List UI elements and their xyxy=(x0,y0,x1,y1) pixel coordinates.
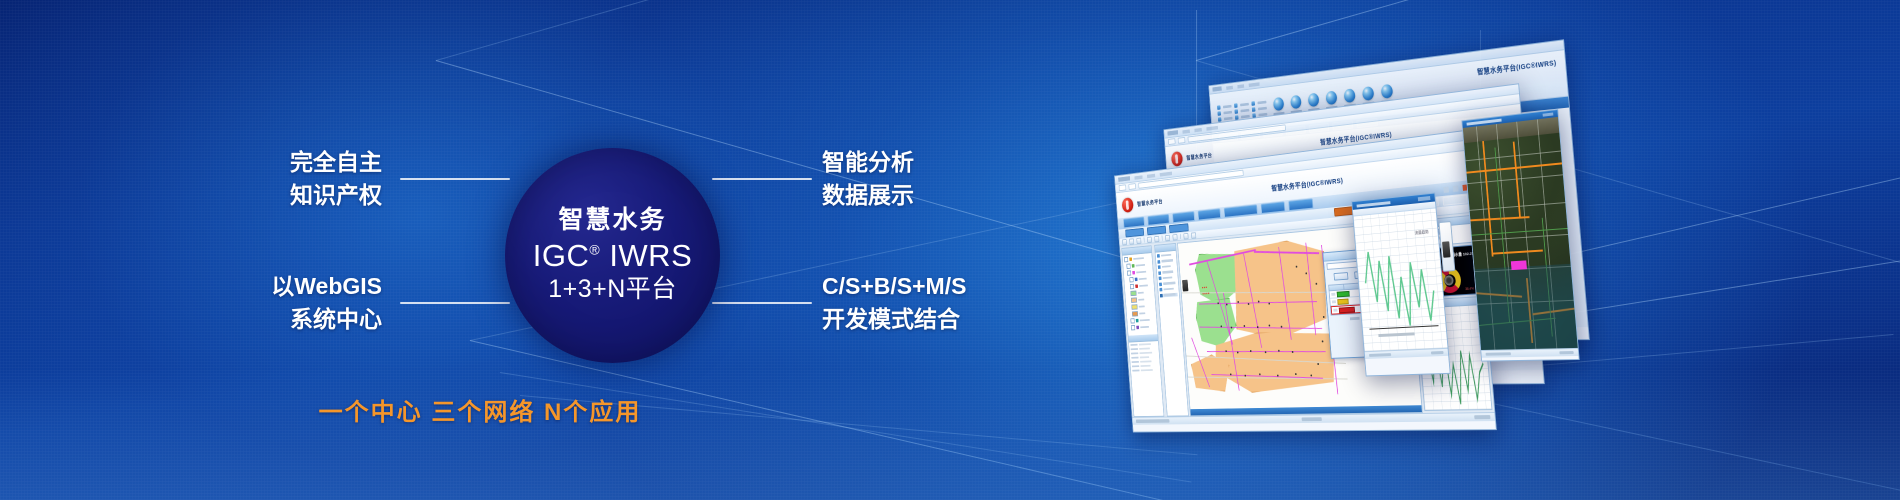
feature-top-left-line1: 完全自主 xyxy=(290,146,382,179)
connector-top-left xyxy=(400,178,510,180)
hub-line2-rest: IWRS xyxy=(609,238,692,273)
legend-row xyxy=(1127,296,1154,303)
ribbon-orb-icon xyxy=(1343,88,1355,103)
feature-bottom-left-line1: 以WebGIS xyxy=(271,270,382,303)
tool-item[interactable] xyxy=(1158,264,1176,269)
feature-top-right-line2: 数据展示 xyxy=(822,179,914,212)
maximize-icon[interactable] xyxy=(1453,185,1459,191)
select-tool-icon[interactable] xyxy=(1147,236,1152,242)
water-drop-logo-icon xyxy=(1122,197,1134,213)
window-trend-chart[interactable]: 流量趋势 xyxy=(1351,193,1448,375)
zoom-out-icon[interactable] xyxy=(1136,237,1141,243)
trend-line-svg xyxy=(1353,208,1447,351)
connector-bottom-right xyxy=(712,302,812,304)
layer-tool-icon[interactable] xyxy=(1165,234,1170,241)
layer-item[interactable] xyxy=(1125,276,1152,283)
satellite-map-canvas[interactable] xyxy=(1463,117,1578,350)
pan-tool-icon[interactable] xyxy=(1122,239,1127,245)
layer-item[interactable] xyxy=(1129,324,1156,330)
hub-line2-main: IGC xyxy=(533,238,590,273)
connector-bottom-left xyxy=(400,302,510,304)
tagline: 一个中心 三个网络 N个应用 xyxy=(0,392,960,427)
props-list xyxy=(1129,341,1160,374)
layer-item[interactable] xyxy=(1124,262,1151,269)
tool-item[interactable] xyxy=(1159,275,1177,280)
tool-item[interactable] xyxy=(1160,292,1178,297)
hub-line1: 智慧水务 xyxy=(558,207,666,235)
window-satellite-map[interactable] xyxy=(1461,109,1577,360)
export-tool-icon[interactable] xyxy=(1191,232,1196,239)
hub-line2: IGC® IWRS xyxy=(533,240,693,273)
map-selection-highlight xyxy=(1511,260,1527,270)
ribbon-orb-icon xyxy=(1290,95,1301,109)
ribbon-orb-icon xyxy=(1380,84,1392,99)
query-tool-icon[interactable] xyxy=(1172,234,1177,241)
feature-bottom-right: C/S+B/S+M/S 开发模式结合 xyxy=(822,270,966,335)
legend-row xyxy=(1127,303,1154,309)
tool-item[interactable] xyxy=(1159,281,1177,286)
minimize-icon[interactable] xyxy=(1443,186,1449,192)
tool-item[interactable] xyxy=(1158,270,1176,275)
tool-item[interactable] xyxy=(1157,258,1175,263)
tool-list[interactable] xyxy=(1155,251,1179,299)
legend-row xyxy=(1128,310,1155,316)
feature-bottom-right-line2: 开发模式结合 xyxy=(822,303,966,336)
feature-top-left-line2: 知识产权 xyxy=(290,179,382,212)
hub-line3: 1+3+N平台 xyxy=(548,275,677,304)
banner-stage: 完全自主 知识产权 智能分析 数据展示 以WebGIS 系统中心 C/S+B/S… xyxy=(0,0,1900,500)
measure-tool-icon[interactable] xyxy=(1154,235,1159,241)
front-window-title: 智慧水务平台(IGC®IWRS) xyxy=(1271,175,1343,193)
feature-bottom-right-line1: C/S+B/S+M/S xyxy=(822,270,966,303)
tool-item[interactable] xyxy=(1159,287,1177,292)
ribbon-orb-icon xyxy=(1307,93,1319,108)
ribbon-button-1[interactable] xyxy=(1272,97,1284,116)
feature-bottom-left: 以WebGIS 系统中心 xyxy=(271,270,382,335)
pie-chart-title: 漏水量 102.25 xyxy=(1451,251,1474,259)
front-brand-text: 智慧水务平台 xyxy=(1137,197,1163,208)
connector-top-right xyxy=(712,178,812,180)
legend-row xyxy=(1126,289,1153,296)
trend-nav-knob[interactable] xyxy=(1442,241,1451,258)
layer-item[interactable] xyxy=(1124,255,1151,262)
print-tool-icon[interactable] xyxy=(1183,233,1188,240)
layer-item[interactable] xyxy=(1125,269,1152,276)
infographic: 完全自主 知识产权 智能分析 数据展示 以WebGIS 系统中心 C/S+B/S… xyxy=(0,0,960,500)
feature-top-left: 完全自主 知识产权 xyxy=(290,146,382,211)
layer-item[interactable] xyxy=(1128,317,1155,323)
hub-registered-icon: ® xyxy=(589,241,600,257)
ribbon-orb-icon xyxy=(1273,97,1284,111)
middle-brand-text: 智慧水务平台 xyxy=(1186,151,1212,162)
zoom-in-icon[interactable] xyxy=(1129,238,1134,244)
ribbon-orb-icon xyxy=(1362,86,1374,101)
layer-tree[interactable] xyxy=(1123,253,1158,332)
ribbon-orb-icon xyxy=(1325,91,1337,106)
back-window-title: 智慧水务平台(IGC®IWRS) xyxy=(1477,57,1557,77)
hub-circle: 智慧水务 IGC® IWRS 1+3+N平台 xyxy=(505,148,720,363)
feature-top-right: 智能分析 数据展示 xyxy=(822,146,914,211)
layer-item[interactable] xyxy=(1126,282,1153,289)
map-nav-knob[interactable] xyxy=(1182,280,1188,292)
water-drop-logo-icon xyxy=(1171,151,1183,167)
feature-bottom-left-line2: 系统中心 xyxy=(271,303,382,336)
query-button[interactable] xyxy=(1334,272,1349,281)
feature-top-right-line1: 智能分析 xyxy=(822,146,914,179)
tool-item[interactable] xyxy=(1157,253,1175,258)
